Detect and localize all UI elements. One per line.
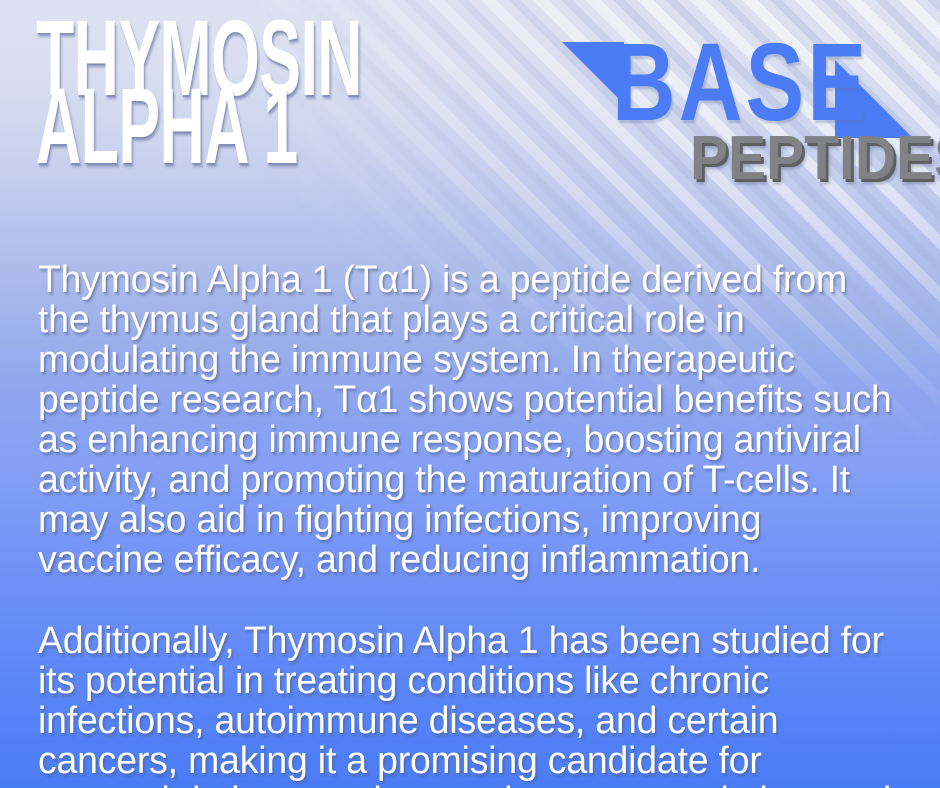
page-title: THYMOSIN ALPHA 1 <box>36 16 556 168</box>
description-paragraph-1: Thymosin Alpha 1 (Tα1) is a peptide deri… <box>38 260 895 580</box>
headline-line-2: ALPHA 1 <box>36 84 338 168</box>
promotional-poster: THYMOSIN ALPHA 1 BASE PEPTIDES Thymosin … <box>0 0 940 788</box>
brand-name-secondary: PEPTIDES <box>690 128 940 190</box>
description-paragraph-2: Additionally, Thymosin Alpha 1 has been … <box>38 621 895 788</box>
body-copy: Thymosin Alpha 1 (Tα1) is a peptide deri… <box>38 222 908 788</box>
brand-name-primary: BASE <box>612 28 869 138</box>
brand-logo[interactable]: BASE PEPTIDES <box>560 20 940 185</box>
